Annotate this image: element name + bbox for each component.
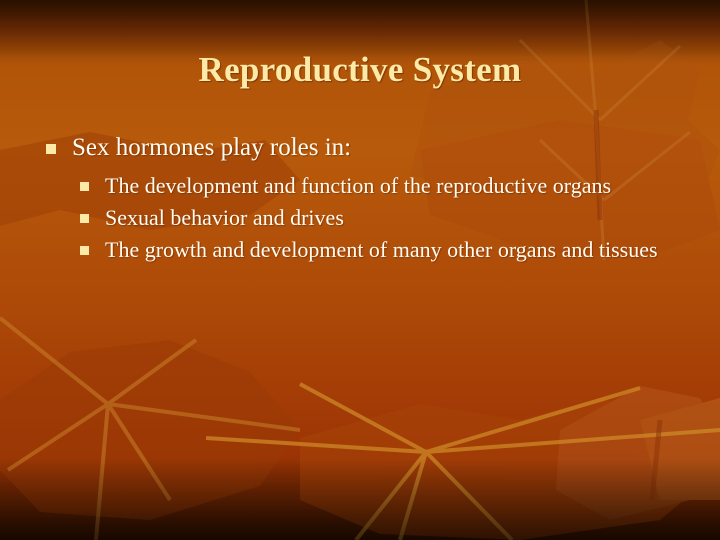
bullet-level2-list: The development and function of the repr… — [0, 170, 720, 265]
bullet-level2-text: The growth and development of many other… — [105, 237, 658, 262]
slide: Reproductive System Sex hormones play ro… — [0, 0, 720, 540]
slide-body: Sex hormones play roles in: The developm… — [0, 132, 720, 266]
bullet-level2-text: The development and function of the repr… — [105, 173, 611, 198]
square-bullet-icon — [46, 144, 56, 154]
square-bullet-icon — [80, 246, 89, 255]
bullet-level2-item: The development and function of the repr… — [0, 170, 720, 201]
square-bullet-icon — [80, 214, 89, 223]
bullet-level1-text: Sex hormones play roles in: — [72, 134, 351, 161]
bullet-level2-item: Sexual behavior and drives — [0, 202, 720, 233]
bullet-level2-item: The growth and development of many other… — [0, 234, 720, 265]
square-bullet-icon — [80, 182, 89, 191]
slide-title: Reproductive System — [0, 50, 720, 90]
bullet-level1: Sex hormones play roles in: — [0, 132, 720, 164]
bullet-level2-text: Sexual behavior and drives — [105, 205, 344, 230]
